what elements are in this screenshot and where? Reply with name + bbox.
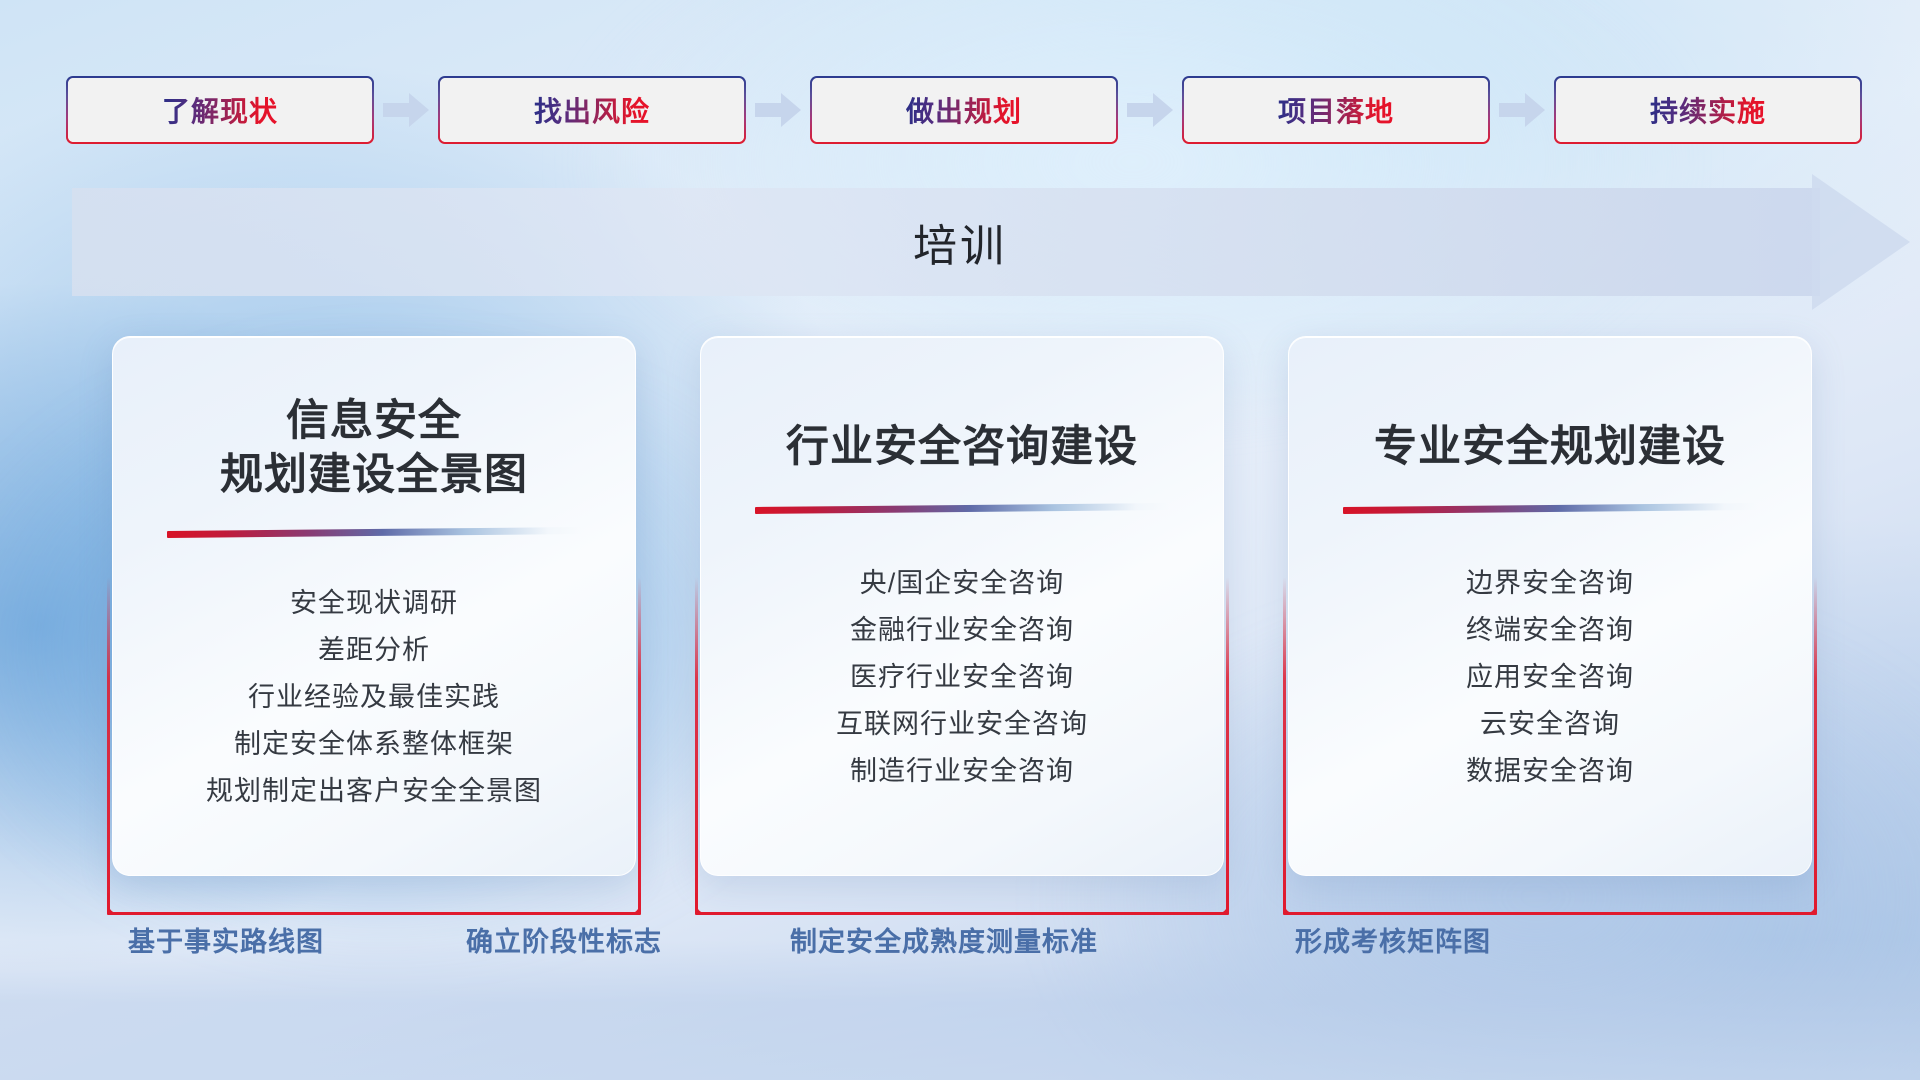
- footnote-2: 确立阶段性标志: [466, 920, 662, 959]
- capability-card-2[interactable]: 行业安全咨询建设 央/国企安全咨询 金融行业安全咨询 医疗行业安全咨询 互联网行…: [700, 336, 1224, 876]
- footnote-1: 基于事实路线图: [128, 920, 324, 959]
- card-2-rail-bottom: [695, 912, 1229, 915]
- card-1-title: 信息安全 规划建设全景图: [147, 395, 601, 503]
- step-arrow-icon-1: [374, 76, 438, 144]
- card-2-title: 行业安全咨询建设: [735, 421, 1189, 475]
- card-3-rail-corner-left: [1283, 893, 1305, 915]
- card-1-rail-left: [107, 577, 110, 915]
- card-2-list-item-5[interactable]: 制造行业安全咨询: [735, 748, 1189, 795]
- step-chip-1-inner: 了解现状: [68, 78, 373, 143]
- card-2-rail-corner-left: [695, 893, 717, 915]
- footnote-4: 形成考核矩阵图: [1295, 920, 1491, 959]
- step-chip-3[interactable]: 做出规划: [810, 76, 1118, 144]
- step-chip-5-label: 持续实施: [1650, 90, 1766, 130]
- step-chip-4-label: 项目落地: [1278, 90, 1394, 130]
- capability-card-row: 信息安全 规划建设全景图 安全现状调研 差距分析 行业经验及最佳实践 制定安全体…: [112, 336, 1812, 876]
- card-1-divider: [167, 527, 581, 538]
- card-3-rail-bottom: [1283, 912, 1817, 915]
- card-3-rail-left: [1283, 577, 1286, 915]
- step-chip-3-label: 做出规划: [906, 90, 1022, 130]
- card-3-rail-right: [1814, 577, 1817, 915]
- card-1-rail-corner-right: [619, 893, 641, 915]
- step-chip-2-inner: 找出风险: [440, 78, 745, 143]
- card-1-list-item-3[interactable]: 行业经验及最佳实践: [147, 674, 601, 721]
- training-banner-label: 培训: [0, 188, 1920, 296]
- step-chip-4-inner: 项目落地: [1184, 78, 1489, 143]
- card-3-list: 边界安全咨询 终端安全咨询 应用安全咨询 云安全咨询 数据安全咨询: [1323, 560, 1777, 795]
- card-2-rail-corner-right: [1207, 893, 1229, 915]
- step-chip-1-label: 了解现状: [162, 90, 278, 130]
- card-3-list-item-5[interactable]: 数据安全咨询: [1323, 748, 1777, 795]
- step-chip-5-inner: 持续实施: [1556, 78, 1861, 143]
- step-arrow-icon-2: [746, 76, 810, 144]
- card-3-divider: [1343, 503, 1757, 514]
- step-chip-5[interactable]: 持续实施: [1554, 76, 1862, 144]
- footnote-3: 制定安全成熟度测量标准: [790, 920, 1098, 959]
- card-1-list-item-2[interactable]: 差距分析: [147, 627, 601, 674]
- step-arrow-icon-4: [1490, 76, 1554, 144]
- card-2-list-item-3[interactable]: 医疗行业安全咨询: [735, 654, 1189, 701]
- card-1-list-item-5[interactable]: 规划制定出客户安全全景图: [147, 768, 601, 815]
- process-step-bar: 了解现状 找出风险 做出规划 项目落地: [66, 76, 1862, 144]
- card-2-list: 央/国企安全咨询 金融行业安全咨询 医疗行业安全咨询 互联网行业安全咨询 制造行…: [735, 560, 1189, 795]
- step-chip-4[interactable]: 项目落地: [1182, 76, 1490, 144]
- step-chip-3-inner: 做出规划: [812, 78, 1117, 143]
- card-3-list-item-4[interactable]: 云安全咨询: [1323, 701, 1777, 748]
- capability-card-3[interactable]: 专业安全规划建设 边界安全咨询 终端安全咨询 应用安全咨询 云安全咨询 数据安全…: [1288, 336, 1812, 876]
- card-2-list-item-2[interactable]: 金融行业安全咨询: [735, 607, 1189, 654]
- card-2-list-item-4[interactable]: 互联网行业安全咨询: [735, 701, 1189, 748]
- card-3-list-item-1[interactable]: 边界安全咨询: [1323, 560, 1777, 607]
- step-arrow-icon-3: [1118, 76, 1182, 144]
- card-3-rail-corner-right: [1795, 893, 1817, 915]
- step-chip-1[interactable]: 了解现状: [66, 76, 374, 144]
- card-1-list-item-1[interactable]: 安全现状调研: [147, 580, 601, 627]
- card-1-list-item-4[interactable]: 制定安全体系整体框架: [147, 721, 601, 768]
- card-2-rail-left: [695, 577, 698, 915]
- card-3-title: 专业安全规划建设: [1323, 421, 1777, 475]
- card-1-rail-corner-left: [107, 893, 129, 915]
- card-2-divider: [755, 503, 1169, 514]
- card-3-list-item-3[interactable]: 应用安全咨询: [1323, 654, 1777, 701]
- card-3-list-item-2[interactable]: 终端安全咨询: [1323, 607, 1777, 654]
- card-1-rail-right: [638, 577, 641, 915]
- card-2-rail-right: [1226, 577, 1229, 915]
- step-chip-2-label: 找出风险: [534, 90, 650, 130]
- card-1-rail-bottom: [107, 912, 641, 915]
- card-1-list: 安全现状调研 差距分析 行业经验及最佳实践 制定安全体系整体框架 规划制定出客户…: [147, 580, 601, 815]
- step-chip-2[interactable]: 找出风险: [438, 76, 746, 144]
- footnote-row: 基于事实路线图 确立阶段性标志 制定安全成熟度测量标准 形成考核矩阵图: [0, 920, 1920, 976]
- card-2-list-item-1[interactable]: 央/国企安全咨询: [735, 560, 1189, 607]
- capability-card-1[interactable]: 信息安全 规划建设全景图 安全现状调研 差距分析 行业经验及最佳实践 制定安全体…: [112, 336, 636, 876]
